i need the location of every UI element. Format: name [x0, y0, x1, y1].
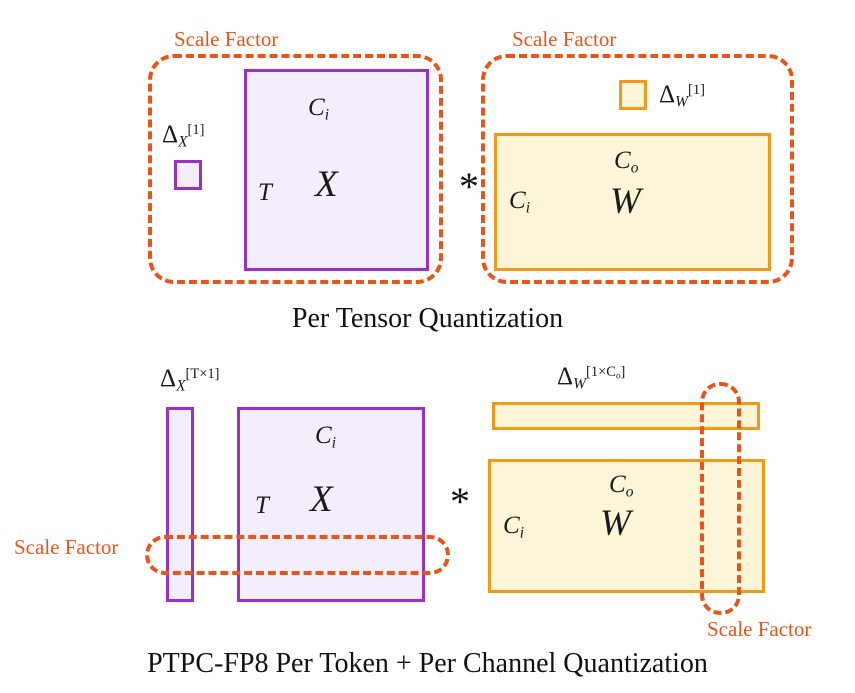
delta-superscript: [1] — [688, 82, 705, 98]
bottom-left-scale-factor-outline — [145, 535, 450, 575]
top-section-caption: Per Tensor Quantization — [0, 303, 855, 335]
bottom-right-scale-factor-outline — [700, 382, 741, 615]
delta-superscript: [T×1] — [186, 366, 220, 382]
top-multiply-symbol: * — [459, 167, 479, 207]
top-left-scale-factor-label: Scale Factor — [174, 29, 278, 50]
co-base: C — [609, 471, 626, 498]
bottom-weight-matrix-label: W — [600, 505, 631, 542]
ci-sub: i — [332, 434, 336, 451]
top-weight-matrix-label: W — [610, 183, 641, 220]
delta-glyph: Δ — [162, 121, 178, 148]
sup-suffix: ] — [620, 364, 625, 380]
top-activation-matrix-label: X — [315, 166, 338, 203]
delta-glyph: Δ — [557, 363, 573, 390]
sup-co-base: C — [606, 364, 616, 380]
ci-sub: i — [520, 524, 524, 541]
ci-sub: i — [325, 106, 329, 123]
figure-canvas: Scale Factor ΔX[1] Ci T X * Scale Factor… — [0, 0, 855, 693]
co-sub: o — [631, 159, 639, 176]
top-right-scale-factor-label: Scale Factor — [512, 29, 616, 50]
ci-base: C — [509, 187, 526, 214]
delta-subscript: W — [675, 93, 688, 110]
bottom-weight-col-dim: Co — [609, 472, 633, 500]
delta-superscript: [1×Co] — [586, 364, 625, 380]
top-activation-col-dim: Ci — [308, 95, 329, 123]
sup-prefix: [1× — [586, 364, 606, 380]
delta-superscript: [1] — [188, 122, 205, 138]
top-weight-col-dim: Co — [614, 148, 638, 176]
top-activation-row-dim: T — [258, 180, 272, 205]
delta-subscript: X — [178, 133, 187, 150]
delta-glyph: Δ — [659, 81, 675, 108]
delta-subscript: W — [573, 375, 586, 392]
top-weight-row-dim: Ci — [509, 188, 530, 216]
top-weight-scale-symbol: ΔW[1] — [659, 82, 705, 110]
ci-base: C — [503, 512, 520, 539]
ci-sub: i — [526, 199, 530, 216]
bottom-left-scale-factor-label: Scale Factor — [14, 537, 118, 558]
bottom-activation-matrix-label: X — [310, 481, 333, 518]
co-base: C — [614, 147, 631, 174]
bottom-multiply-symbol: * — [450, 482, 470, 522]
top-activation-scale-symbol: ΔX[1] — [162, 122, 204, 150]
bottom-activation-scale-symbol: ΔX[T×1] — [160, 366, 220, 394]
bottom-weight-row-dim: Ci — [503, 513, 524, 541]
bottom-section-caption: PTPC-FP8 Per Token + Per Channel Quantiz… — [0, 648, 855, 680]
bottom-activation-row-dim: T — [255, 493, 269, 518]
delta-subscript: X — [176, 377, 185, 394]
delta-glyph: Δ — [160, 365, 176, 392]
top-activation-scale-box — [174, 160, 202, 190]
bottom-weight-scale-symbol: ΔW[1×Co] — [557, 364, 625, 392]
co-sub: o — [626, 483, 634, 500]
ci-base: C — [308, 94, 325, 121]
ci-base: C — [315, 422, 332, 449]
bottom-right-scale-factor-label: Scale Factor — [707, 619, 811, 640]
top-weight-scale-box — [619, 80, 647, 110]
bottom-activation-col-dim: Ci — [315, 423, 336, 451]
